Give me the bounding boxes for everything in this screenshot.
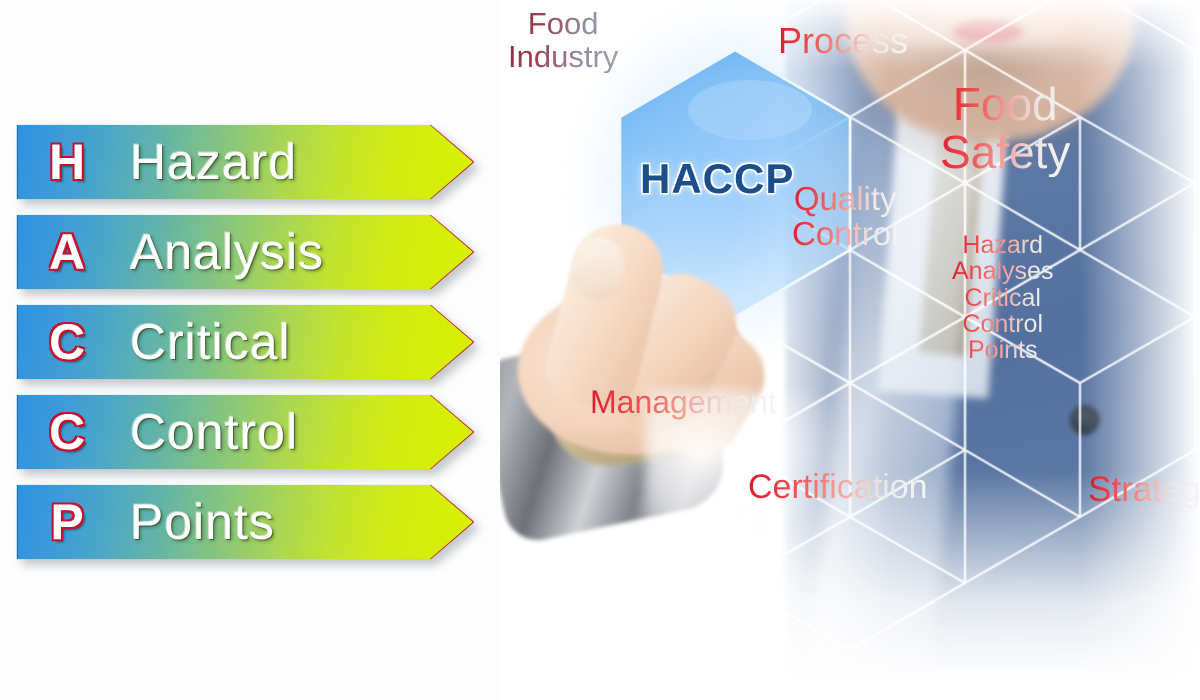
acronym-bar-h[interactable]: H Hazard [18,125,473,199]
hex-label-process[interactable]: Process [778,22,908,60]
acronym-letter: A [34,227,100,277]
acronym-bar-c1[interactable]: C Critical [18,305,473,379]
label-line-2: Control [792,217,898,252]
hex-label-hazard-analyses-ccp[interactable]: Hazard Analyses Critical Control Points [952,232,1053,363]
hex-label-haccp[interactable]: HACCP [640,155,794,203]
hex-label-management[interactable]: Management [590,386,777,420]
acronym-word: Analysis [130,227,324,277]
label-line-2: Safety [940,128,1070,176]
hex-label-food-safety[interactable]: Food Safety [940,80,1070,177]
hex-label-certification[interactable]: Certification [748,470,928,506]
acronym-letter: P [34,497,100,547]
haccp-infographic: H Hazard A Analysis C Critical C Control [0,0,1200,700]
hex-label-strategy[interactable]: Strateg [1088,472,1200,509]
label-line-1: Food [940,80,1070,128]
acronym-word: Hazard [130,137,297,187]
acronym-word: Points [130,497,275,547]
label-line-5: Points [952,337,1053,363]
acronym-word: Control [130,407,298,457]
label-line-1: Quality [792,182,898,217]
acronym-bar-a[interactable]: A Analysis [18,215,473,289]
hexagon-interface-panel: HACCP Food Industry Process Food Safety … [500,0,1200,700]
label-line-2: Industry [508,41,618,74]
acronym-letter: C [34,407,100,457]
acronym-banner-panel: H Hazard A Analysis C Critical C Control [0,0,500,700]
acronym-bar-p[interactable]: P Points [18,485,473,559]
label-line-1: Food [508,8,618,41]
acronym-bar-c2[interactable]: C Control [18,395,473,469]
label-line-2: Analyses [952,258,1053,284]
label-line-1: Hazard [952,232,1053,258]
acronym-letter: C [34,317,100,367]
hex-label-food-industry[interactable]: Food Industry [508,8,618,73]
acronym-word: Critical [130,317,291,367]
label-line-4: Control [952,311,1053,337]
label-line-3: Critical [952,285,1053,311]
acronym-letter: H [34,137,100,187]
hex-label-quality-control[interactable]: Quality Control [792,182,898,251]
